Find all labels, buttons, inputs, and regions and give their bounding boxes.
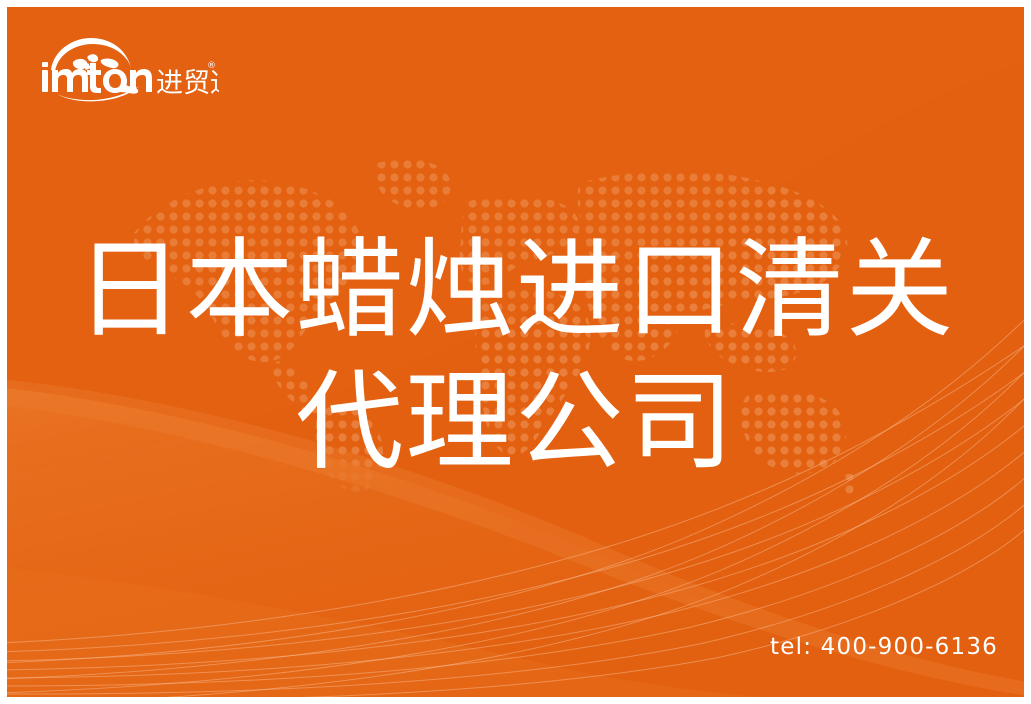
title-line-2: 代理公司 (7, 357, 1024, 489)
page-title: 日本蜡烛进口清关 代理公司 (7, 225, 1024, 489)
logo-chinese-name: 进贸通 (156, 68, 219, 99)
contact-phone[interactable]: tel: 400-900-6136 (770, 634, 998, 660)
poster-background: 进贸通 ® 日本蜡烛进口清关 代理公司 tel: 400-900-6136 (7, 7, 1024, 697)
company-logo[interactable]: 进贸通 ® (39, 30, 219, 102)
title-line-1: 日本蜡烛进口清关 (75, 228, 955, 353)
registered-trademark-icon: ® (207, 61, 216, 71)
poster-canvas: 进贸通 ® 日本蜡烛进口清关 代理公司 tel: 400-900-6136 (0, 0, 1031, 704)
